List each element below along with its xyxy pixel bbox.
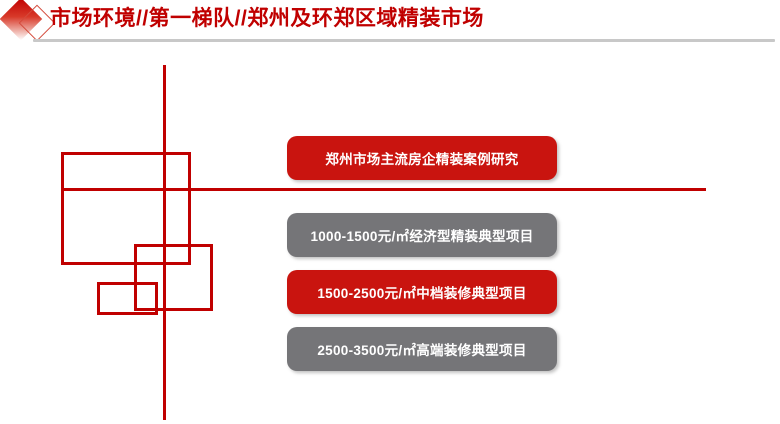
content-box-highend-tier[interactable]: 2500-3500元/㎡高端装修典型项目 [287, 327, 557, 371]
content-box-midrange-tier[interactable]: 1500-2500元/㎡中档装修典型项目 [287, 270, 557, 314]
page-title: 市场环境//第一梯队//郑州及环郑区域精装市场 [50, 4, 484, 34]
header-divider [33, 39, 775, 42]
content-box-main-topic[interactable]: 郑州市场主流房企精装案例研究 [287, 136, 557, 180]
slide-canvas: 市场环境//第一梯队//郑州及环郑区域精装市场 郑州市场主流房企精装案例研究 1… [0, 0, 780, 424]
decorative-rectangle-small [97, 282, 158, 315]
content-box-economy-tier[interactable]: 1000-1500元/㎡经济型精装典型项目 [287, 213, 557, 257]
